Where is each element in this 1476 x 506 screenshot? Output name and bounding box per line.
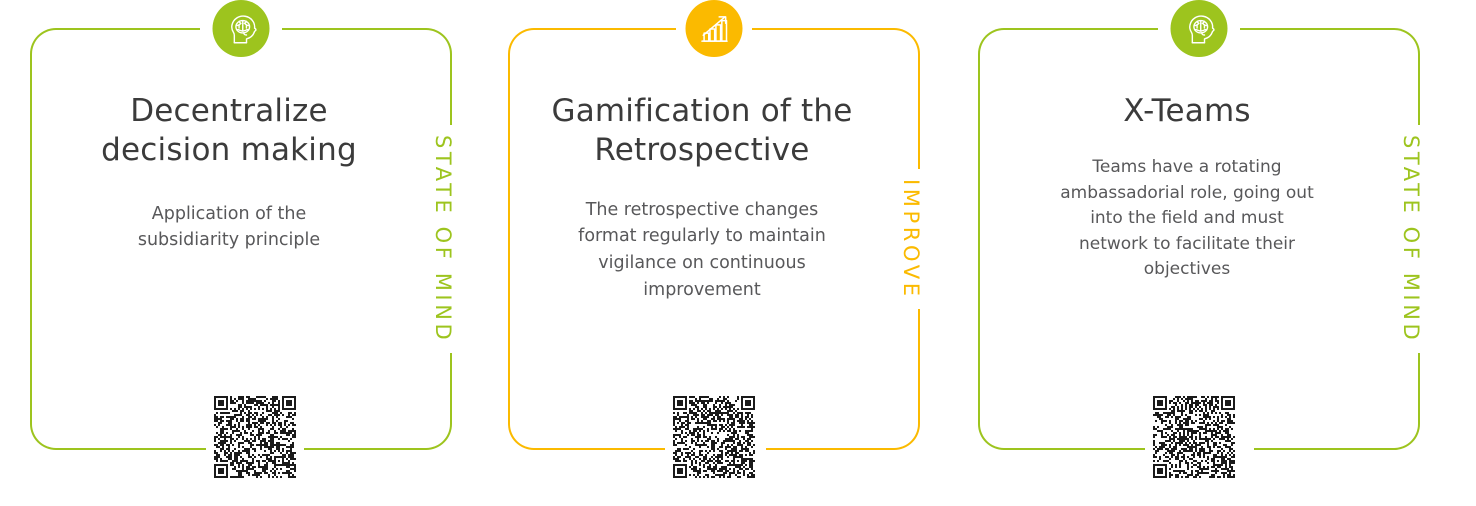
practice-card-x-teams[interactable]: X-Teams Teams have a rotating ambassador… bbox=[978, 28, 1420, 450]
qr-code-canvas[interactable] bbox=[214, 396, 296, 478]
card-border-bottom-right bbox=[1254, 448, 1394, 450]
practice-card-gamification-of-the-retrospective[interactable]: Gamification of the Retrospective The re… bbox=[508, 28, 920, 450]
card-side-label-text: STATE OF MIND bbox=[1399, 125, 1423, 353]
card-border-bottom-right bbox=[766, 448, 894, 450]
card-border-left bbox=[508, 28, 536, 450]
cards-board: Decentralize decision making Application… bbox=[0, 0, 1476, 506]
qr-code-canvas[interactable] bbox=[1153, 396, 1235, 478]
qr-code[interactable] bbox=[665, 396, 763, 478]
card-side-label: IMPROVE bbox=[898, 28, 924, 450]
card-side-label: STATE OF MIND bbox=[1398, 28, 1424, 450]
card-title: Decentralize decision making bbox=[64, 92, 394, 171]
qr-code[interactable] bbox=[1145, 396, 1243, 478]
card-side-label: STATE OF MIND bbox=[430, 28, 456, 450]
qr-code-canvas[interactable] bbox=[673, 396, 755, 478]
card-side-label-text: IMPROVE bbox=[899, 169, 923, 310]
card-border-top-right bbox=[1240, 28, 1394, 30]
card-border-top-right bbox=[282, 28, 426, 30]
card-body: Decentralize decision making Application… bbox=[64, 92, 394, 254]
card-body: X-Teams Teams have a rotating ambassador… bbox=[1012, 92, 1362, 283]
card-border-left bbox=[978, 28, 1006, 450]
card-border-top-left bbox=[534, 28, 676, 30]
card-border-bottom-left bbox=[534, 448, 682, 450]
growth-chart-icon bbox=[686, 0, 743, 57]
card-side-label-text: STATE OF MIND bbox=[431, 125, 455, 353]
card-description: Teams have a rotating ambassadorial role… bbox=[1012, 155, 1362, 283]
card-border-left bbox=[30, 28, 58, 450]
practice-card-decentralize-decision-making[interactable]: Decentralize decision making Application… bbox=[30, 28, 452, 450]
brain-head-icon bbox=[1171, 0, 1228, 57]
brain-head-icon bbox=[213, 0, 270, 57]
card-border-top-left bbox=[56, 28, 200, 30]
qr-code[interactable] bbox=[206, 396, 304, 478]
card-title: X-Teams bbox=[1012, 92, 1362, 131]
card-body: Gamification of the Retrospective The re… bbox=[542, 92, 862, 303]
card-border-bottom-left bbox=[56, 448, 206, 450]
card-description: Application of the subsidiarity principl… bbox=[64, 201, 394, 254]
card-title: Gamification of the Retrospective bbox=[542, 92, 862, 171]
card-border-top-left bbox=[1004, 28, 1158, 30]
card-description: The retrospective changes format regular… bbox=[542, 197, 862, 303]
card-border-bottom-left bbox=[1004, 448, 1164, 450]
card-border-bottom-right bbox=[296, 448, 426, 450]
card-border-top-right bbox=[752, 28, 894, 30]
